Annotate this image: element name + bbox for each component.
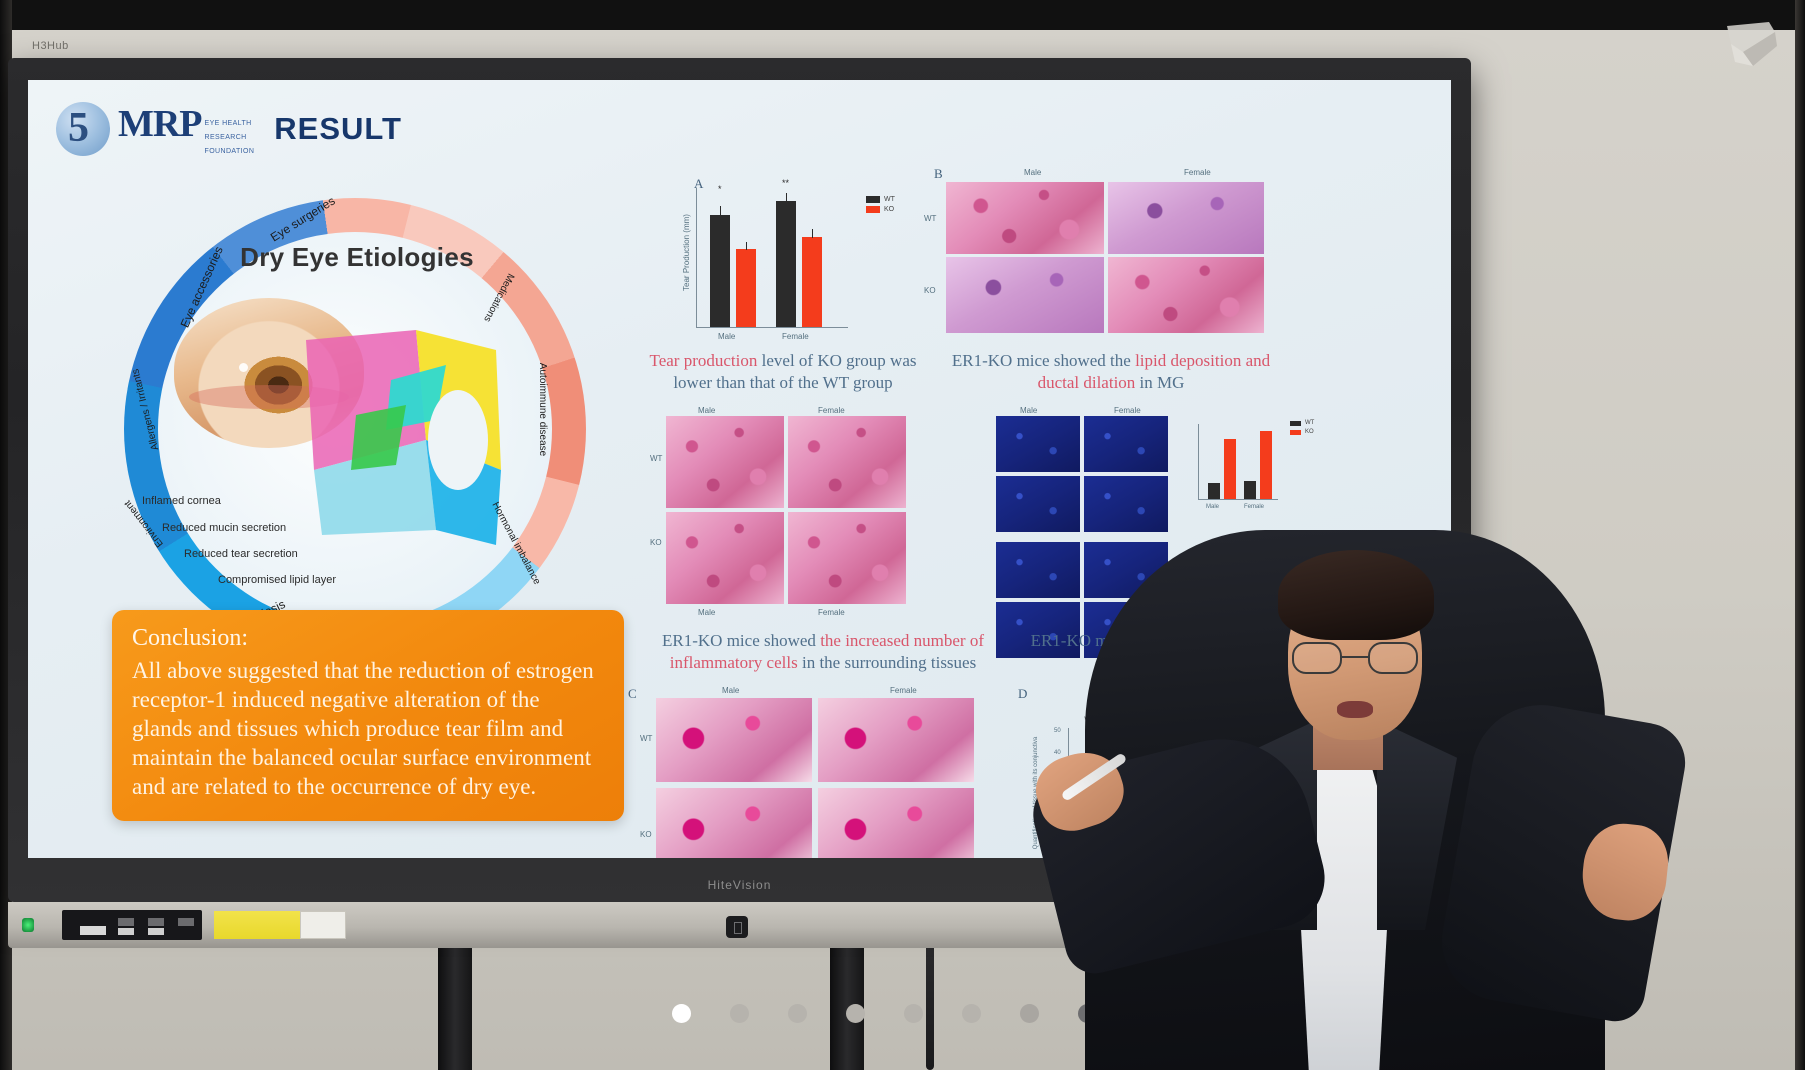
wall-right-edge	[1795, 0, 1805, 1070]
panel-e-row-ko: KO	[640, 830, 652, 839]
panel-b-row-wt: WT	[924, 214, 936, 223]
panel-e-tile-ko-male	[656, 788, 812, 858]
panel-letter-c: C	[628, 686, 637, 702]
pagination-dot-2[interactable]	[730, 1004, 749, 1023]
presenter-person	[1045, 260, 1685, 1070]
panel-a-sig-1: *	[718, 184, 722, 194]
legend-label-ko: KO	[884, 206, 894, 213]
pagination-dot-5[interactable]	[904, 1004, 923, 1023]
legend-swatch-ko	[866, 206, 880, 213]
legend-item-wt: WT	[866, 196, 895, 203]
mrp-logo-icon	[56, 102, 110, 156]
ceiling-fixture-icon	[1723, 22, 1779, 74]
panel-a-xtick-male: Male	[718, 332, 735, 341]
room-background: H3Hub HiteVision MRP EYE HEALTH RESEARCH…	[0, 0, 1805, 1070]
pagination-dot-7[interactable]	[1020, 1004, 1039, 1023]
panel-b-tile-wt-female	[1108, 182, 1264, 254]
panel-letter-d: D	[1018, 686, 1027, 702]
panel-c-tile-ko-male	[666, 512, 784, 604]
wheel-title: Dry Eye Etiologies	[192, 242, 522, 273]
panel-c-tile-wt-female	[788, 416, 906, 508]
panel-a-chart: * ** Male Female Tear Production (mm)	[696, 188, 848, 328]
panel-home-button[interactable]	[726, 916, 748, 938]
device-label: H3Hub	[32, 40, 69, 52]
presenter-glasses-icon	[1292, 642, 1418, 676]
legend-swatch-wt	[866, 196, 880, 203]
panel-c-bot-female: Female	[818, 608, 845, 617]
inner-label-inflamed-cornea: Inflamed cornea	[142, 495, 221, 507]
inner-label-lipid-layer: Compromised lipid layer	[218, 574, 336, 586]
ceiling-strip	[0, 0, 1805, 30]
panel-b-row-ko: KO	[924, 286, 936, 295]
panel-c-caption: ER1-KO mice showed the increased number …	[628, 630, 1018, 674]
panel-c-caption-p3: in the surrounding tissues	[798, 653, 977, 672]
slide-pagination[interactable]	[672, 1004, 1097, 1023]
panel-a-ylabel: Tear Production (mm)	[682, 214, 691, 291]
panel-c-bot-male: Male	[698, 608, 715, 617]
mrp-sub-line-2: RESEARCH	[205, 134, 255, 142]
panel-a-caption-hl: Tear production	[650, 351, 758, 370]
inner-label-reduced-mucin: Reduced mucin secretion	[162, 522, 286, 534]
pagination-dot-3[interactable]	[788, 1004, 807, 1023]
panel-c-row-wt: WT	[650, 454, 662, 463]
inner-label-reduced-tear: Reduced tear secretion	[184, 548, 298, 560]
pagination-dot-6[interactable]	[962, 1004, 981, 1023]
panel-c-col-female: Female	[818, 406, 845, 415]
legend-label-wt: WT	[884, 196, 895, 203]
panel-c-row-ko: KO	[650, 538, 662, 547]
info-sticker	[300, 911, 346, 939]
panel-e-tile-wt-male	[656, 698, 812, 782]
panel-c-tile-ko-female	[788, 512, 906, 604]
legend-item-ko: KO	[866, 206, 895, 213]
panel-a-sig-2: **	[782, 178, 789, 188]
panel-e-col-female: Female	[890, 686, 917, 695]
slide-title: RESULT	[274, 111, 402, 147]
conclusion-body: All above suggested that the reduction o…	[132, 656, 604, 801]
panel-a-legend: WT KO	[866, 196, 895, 213]
panel-b-col-female: Female	[1184, 168, 1211, 177]
panel-e-col-male: Male	[722, 686, 739, 695]
panel-a-caption: Tear production level of KO group was lo…	[638, 350, 928, 394]
pagination-dot-4[interactable]	[846, 1004, 865, 1023]
mrp-wordmark: MRP	[118, 102, 202, 146]
ring-label-autoimmune: Autoimmune disease	[537, 363, 548, 456]
panel-a-xtick-female: Female	[782, 332, 809, 341]
panel-c-col-male: Male	[698, 406, 715, 415]
port-cluster[interactable]	[62, 910, 202, 940]
conclusion-title: Conclusion:	[132, 625, 604, 652]
panel-e-row-wt: WT	[640, 734, 652, 743]
conclusion-box: Conclusion: All above suggested that the…	[112, 610, 624, 821]
pagination-dot-1[interactable]	[672, 1004, 691, 1023]
panel-c-caption-p1: ER1-KO mice showed	[662, 631, 820, 650]
panel-letter-b: B	[934, 166, 943, 182]
warning-sticker	[214, 911, 300, 939]
panel-b-col-male: Male	[1024, 168, 1041, 177]
presenter-hair	[1278, 550, 1434, 640]
slide-header: MRP EYE HEALTH RESEARCH FOUNDATION RESUL…	[56, 102, 402, 156]
panel-e-tile-ko-female	[818, 788, 974, 858]
presenter-mouth	[1337, 701, 1373, 718]
panel-c-tile-wt-male	[666, 416, 784, 508]
panel-e-tile-wt-female	[818, 698, 974, 782]
mrp-sub-line-3: FOUNDATION	[205, 148, 255, 156]
panel-b-tile-wt-male	[946, 182, 1104, 254]
mrp-sub-line-1: EYE HEALTH	[205, 120, 255, 128]
power-led-icon	[22, 918, 34, 932]
tear-film-layers-illustration	[296, 320, 511, 550]
panel-d-col-male: Male	[1020, 406, 1037, 415]
